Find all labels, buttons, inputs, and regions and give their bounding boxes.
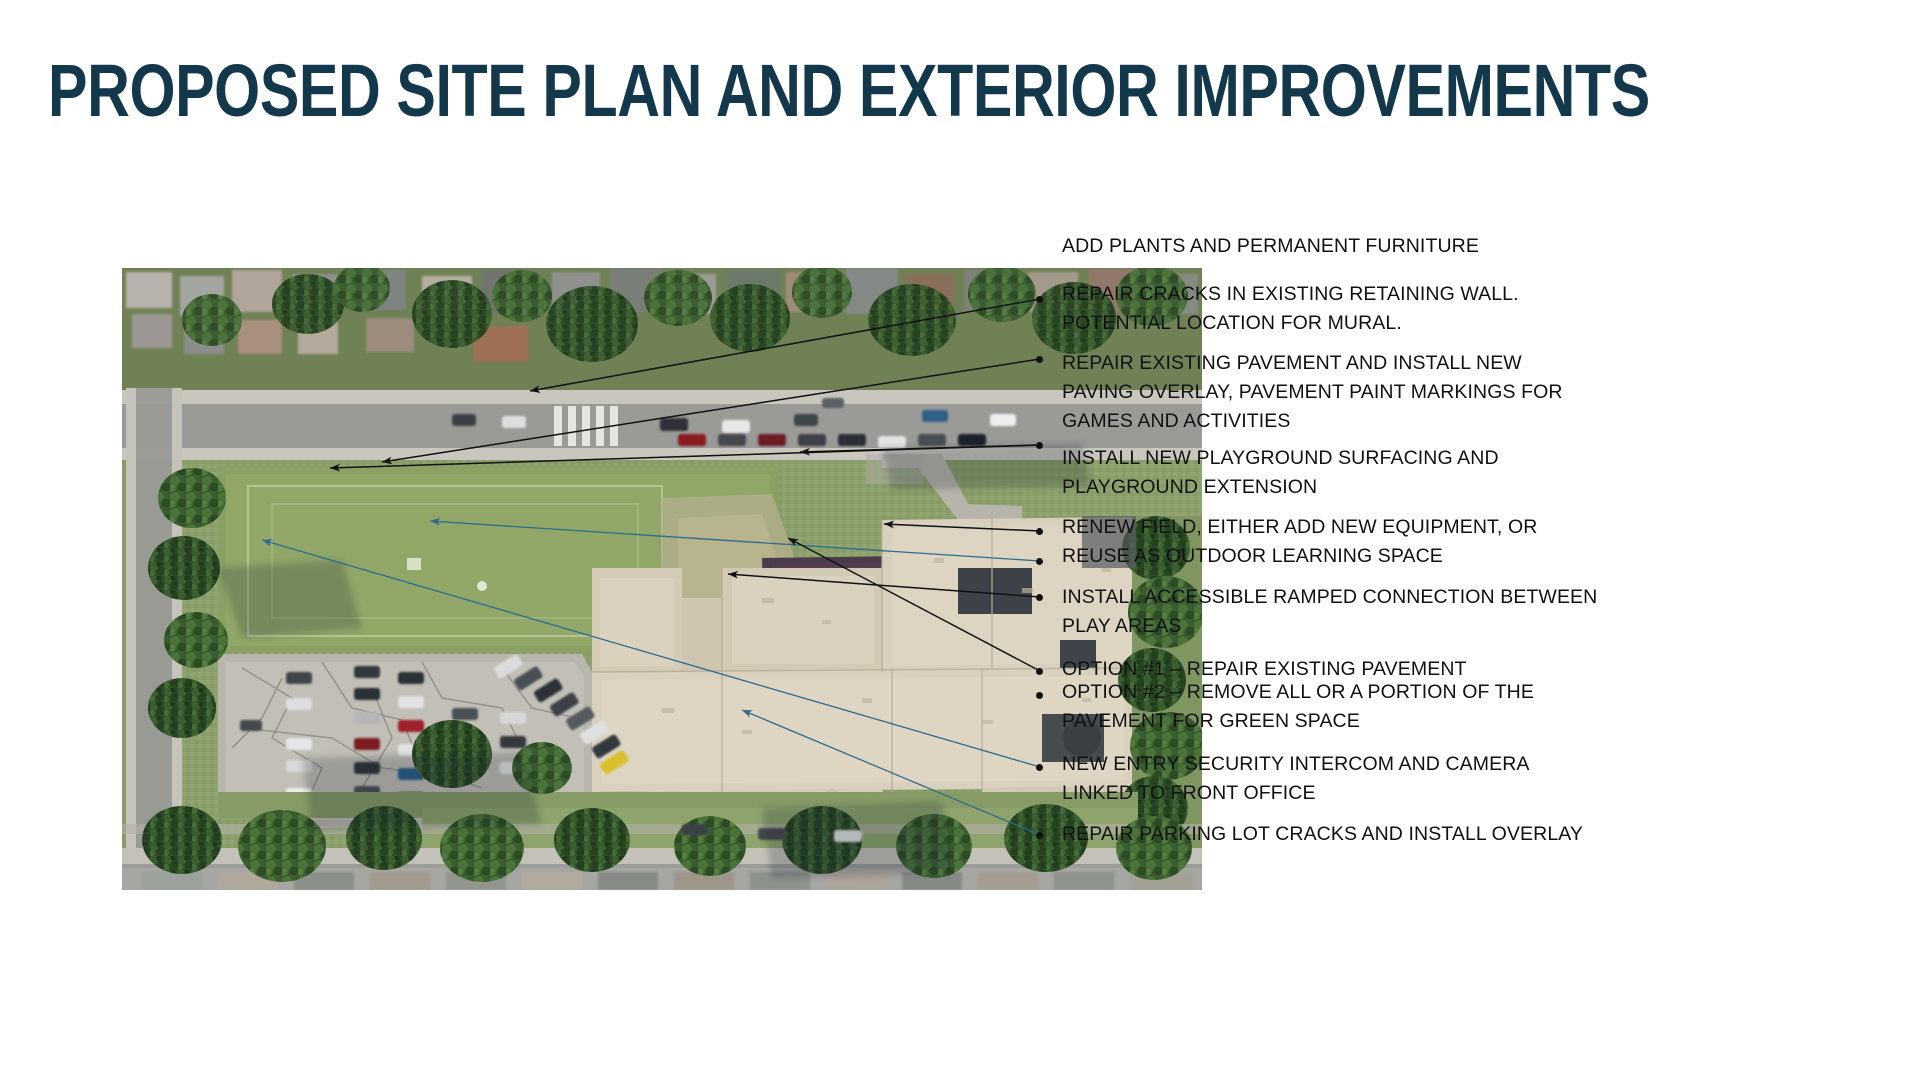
bullet-entry-security xyxy=(1036,764,1043,771)
callout-entry-security: NEW ENTRY SECURITY INTERCOM AND CAMERA L… xyxy=(1062,750,1582,808)
bullet-renew-field xyxy=(1036,528,1043,535)
callout-parking-lot-cracks: REPAIR PARKING LOT CRACKS AND INSTALL OV… xyxy=(1062,820,1602,849)
bullet-repair-pavement xyxy=(1036,442,1043,449)
bullet-option-2 xyxy=(1036,692,1043,699)
callout-accessible-ramp: INSTALL ACCESSIBLE RAMPED CONNECTION BET… xyxy=(1062,583,1602,641)
bullet-option-1 xyxy=(1036,668,1043,675)
callout-repair-pavement-overlay: REPAIR EXISTING PAVEMENT AND INSTALL NEW… xyxy=(1062,349,1582,436)
bullet-playground-surfacing xyxy=(1036,558,1043,565)
presentation-slide: PROPOSED SITE PLAN AND EXTERIOR IMPROVEM… xyxy=(0,0,1920,1080)
callout-repair-retaining-wall: REPAIR CRACKS IN EXISTING RETAINING WALL… xyxy=(1062,280,1582,338)
bullet-parking-lot-cracks xyxy=(1036,832,1043,839)
callout-option-2: OPTION #2 – REMOVE ALL OR A PORTION OF T… xyxy=(1062,678,1582,736)
callout-renew-field: RENEW FIELD, EITHER ADD NEW EQUIPMENT, O… xyxy=(1062,513,1582,571)
callout-add-plants: ADD PLANTS AND PERMANENT FURNITURE xyxy=(1062,232,1582,261)
bullet-accessible-ramp xyxy=(1036,594,1043,601)
callout-list: ADD PLANTS AND PERMANENT FURNITURE REPAI… xyxy=(0,0,1920,1080)
bullet-repair-retaining-wall xyxy=(1036,356,1043,363)
callout-playground-surfacing: INSTALL NEW PLAYGROUND SURFACING AND PLA… xyxy=(1062,444,1582,502)
bullet-add-plants xyxy=(1036,296,1043,303)
